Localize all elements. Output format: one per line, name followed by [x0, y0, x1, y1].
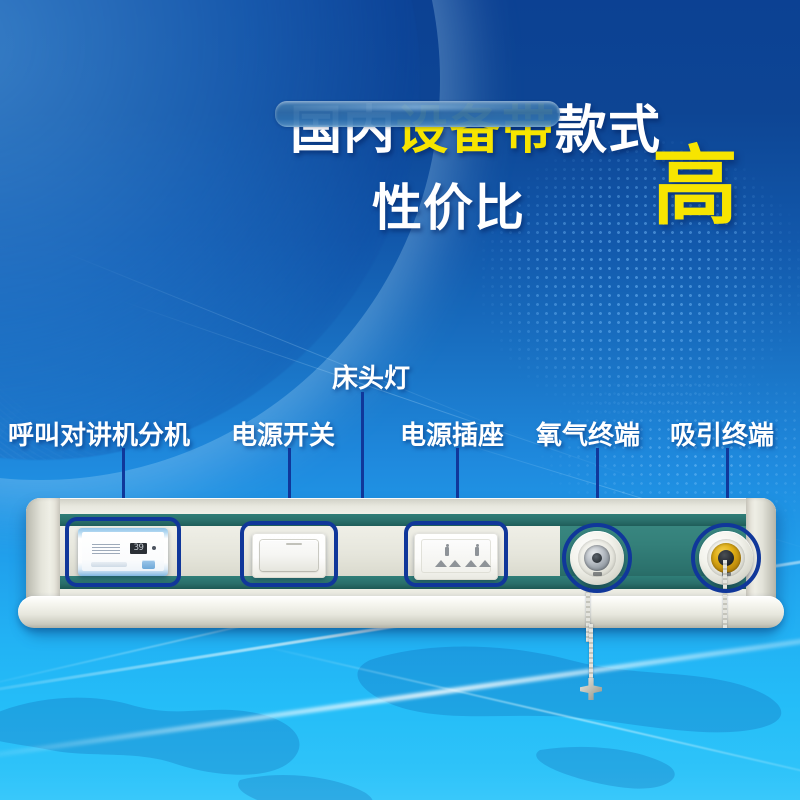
highlight-box-power-switch	[240, 521, 338, 587]
callout-label-bed-lamp: 床头灯	[332, 358, 410, 395]
poster-canvas: 国内设备带款式 性价比 高 呼叫对讲机分机 电源开关 床头灯 电源插座 氧气终端…	[0, 0, 800, 800]
highlight-box-power-socket	[404, 521, 508, 587]
callout-label-oxygen: 氧气终端	[536, 415, 640, 452]
callout-label-suction: 吸引终端	[670, 415, 774, 452]
callout-label-power-socket: 电源插座	[400, 415, 504, 452]
highlight-circle-oxygen	[562, 523, 632, 593]
panel-bottom-rail	[18, 596, 784, 628]
highlight-box-intercom	[65, 517, 181, 587]
bed-lamp-highlight	[290, 104, 540, 110]
suction-cord-lower	[589, 624, 593, 686]
headline-emphasis: 高	[652, 144, 738, 230]
headline-line-2: 性价比	[372, 168, 525, 240]
headline-line1-part3: 款式	[555, 102, 661, 160]
callout-label-power-switch: 电源开关	[231, 415, 335, 452]
callout-label-intercom: 呼叫对讲机分机	[8, 415, 190, 452]
highlight-circle-suction	[691, 523, 761, 593]
